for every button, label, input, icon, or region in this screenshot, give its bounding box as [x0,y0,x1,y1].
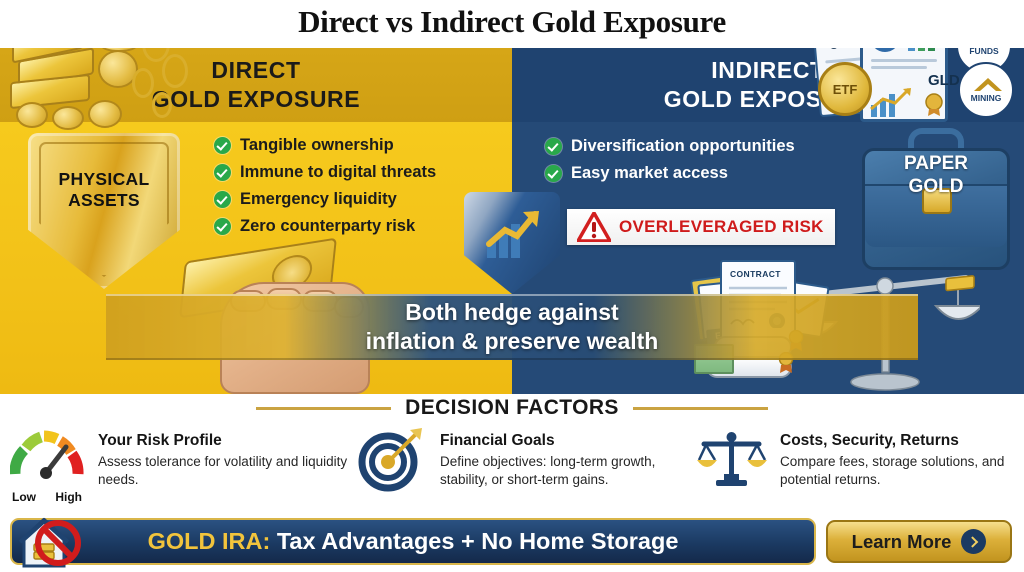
factor-body: Define objectives: long-term growth, sta… [440,453,692,488]
decision-factors-section: DECISION FACTORS Low High [0,394,1024,515]
check-icon [214,164,231,181]
shield-label-line2: ASSETS [28,190,180,211]
decision-factor-risk-profile: Low High Your Risk Profile Assess tolera… [0,426,352,514]
ribbon-line1: Both hedge against [366,298,659,327]
shield-label-line1: PHYSICAL [28,169,180,190]
decision-factors-title: DECISION FACTORS [405,396,619,420]
factor-body: Compare fees, storage solutions, and pot… [780,453,1024,488]
cta-section: GOLD IRA: Tax Advantages + No Home Stora… [0,515,1024,572]
risk-banner-label: OVERLEVERAGED RISK [619,217,824,237]
no-home-storage-icon [14,516,86,570]
overleveraged-risk-banner: OVERLEVERAGED RISK [567,209,835,245]
page-title: Direct vs Indirect Gold Exposure [0,4,1024,40]
indirect-benefits-list: Diversification opportunities Easy marke… [545,133,795,187]
check-icon [214,218,231,235]
gauge-high-label: High [55,490,82,504]
list-item: Tangible ownership [214,132,436,159]
direct-benefits-list: Tangible ownership Immune to digital thr… [214,132,436,240]
divider-left [256,407,391,410]
briefcase-label-line2: GOLD [862,175,1010,198]
list-item: Diversification opportunities [545,133,795,160]
balance-scales-icon [696,426,770,506]
gld-label: GLD [928,72,960,89]
decision-factor-costs-security-returns: Costs, Security, Returns Compare fees, s… [692,426,1024,514]
decision-factors-header: DECISION FACTORS [0,396,1024,420]
upward-chart-arrow-icon [485,210,541,262]
decision-factor-financial-goals: Financial Goals Define objectives: long-… [352,426,692,514]
contract-title: CONTRACT [730,269,781,279]
briefcase-label-line1: PAPER [862,152,1010,175]
list-item: Zero counterparty risk [214,213,436,240]
list-item: Immune to digital threats [214,159,436,186]
hedge-statement-ribbon: Both hedge against inflation & preserve … [106,294,918,360]
risk-gauge-icon: Low High [10,426,84,506]
cta-highlight: GOLD IRA: [148,528,271,554]
etf-label: ETF [833,82,858,97]
factor-body: Assess tolerance for volatility and liqu… [98,453,352,488]
list-item: Emergency liquidity [214,186,436,213]
gauge-low-label: Low [12,490,36,504]
learn-more-button[interactable]: Learn More [826,520,1012,563]
etf-coin-badge: ETF [818,62,872,116]
ribbon-line2: inflation & preserve wealth [366,327,659,356]
factor-heading: Costs, Security, Returns [780,432,1024,450]
chevron-right-icon [961,529,986,554]
warning-triangle-icon [577,212,611,242]
infographic-canvas: STOCK GLD E [0,0,1024,572]
check-icon [214,191,231,208]
mining-badge: MINING [958,62,1014,118]
list-item: Easy market access [545,160,795,187]
paper-gold-briefcase-icon: PAPER GOLD [862,128,1010,270]
growth-shield-icon [464,192,560,294]
learn-more-label: Learn More [852,531,952,553]
target-dart-icon [356,426,430,506]
cta-text: Tax Advantages + No Home Storage [270,528,678,554]
gold-ira-banner[interactable]: GOLD IRA: Tax Advantages + No Home Stora… [10,518,816,565]
factor-heading: Financial Goals [440,432,692,450]
title-bar: Direct vs Indirect Gold Exposure [0,0,1024,48]
divider-right [633,407,768,410]
check-icon [545,165,562,182]
check-icon [545,138,562,155]
check-icon [214,137,231,154]
factor-heading: Your Risk Profile [98,432,352,450]
physical-assets-shield-icon: PHYSICAL ASSETS [28,133,180,289]
